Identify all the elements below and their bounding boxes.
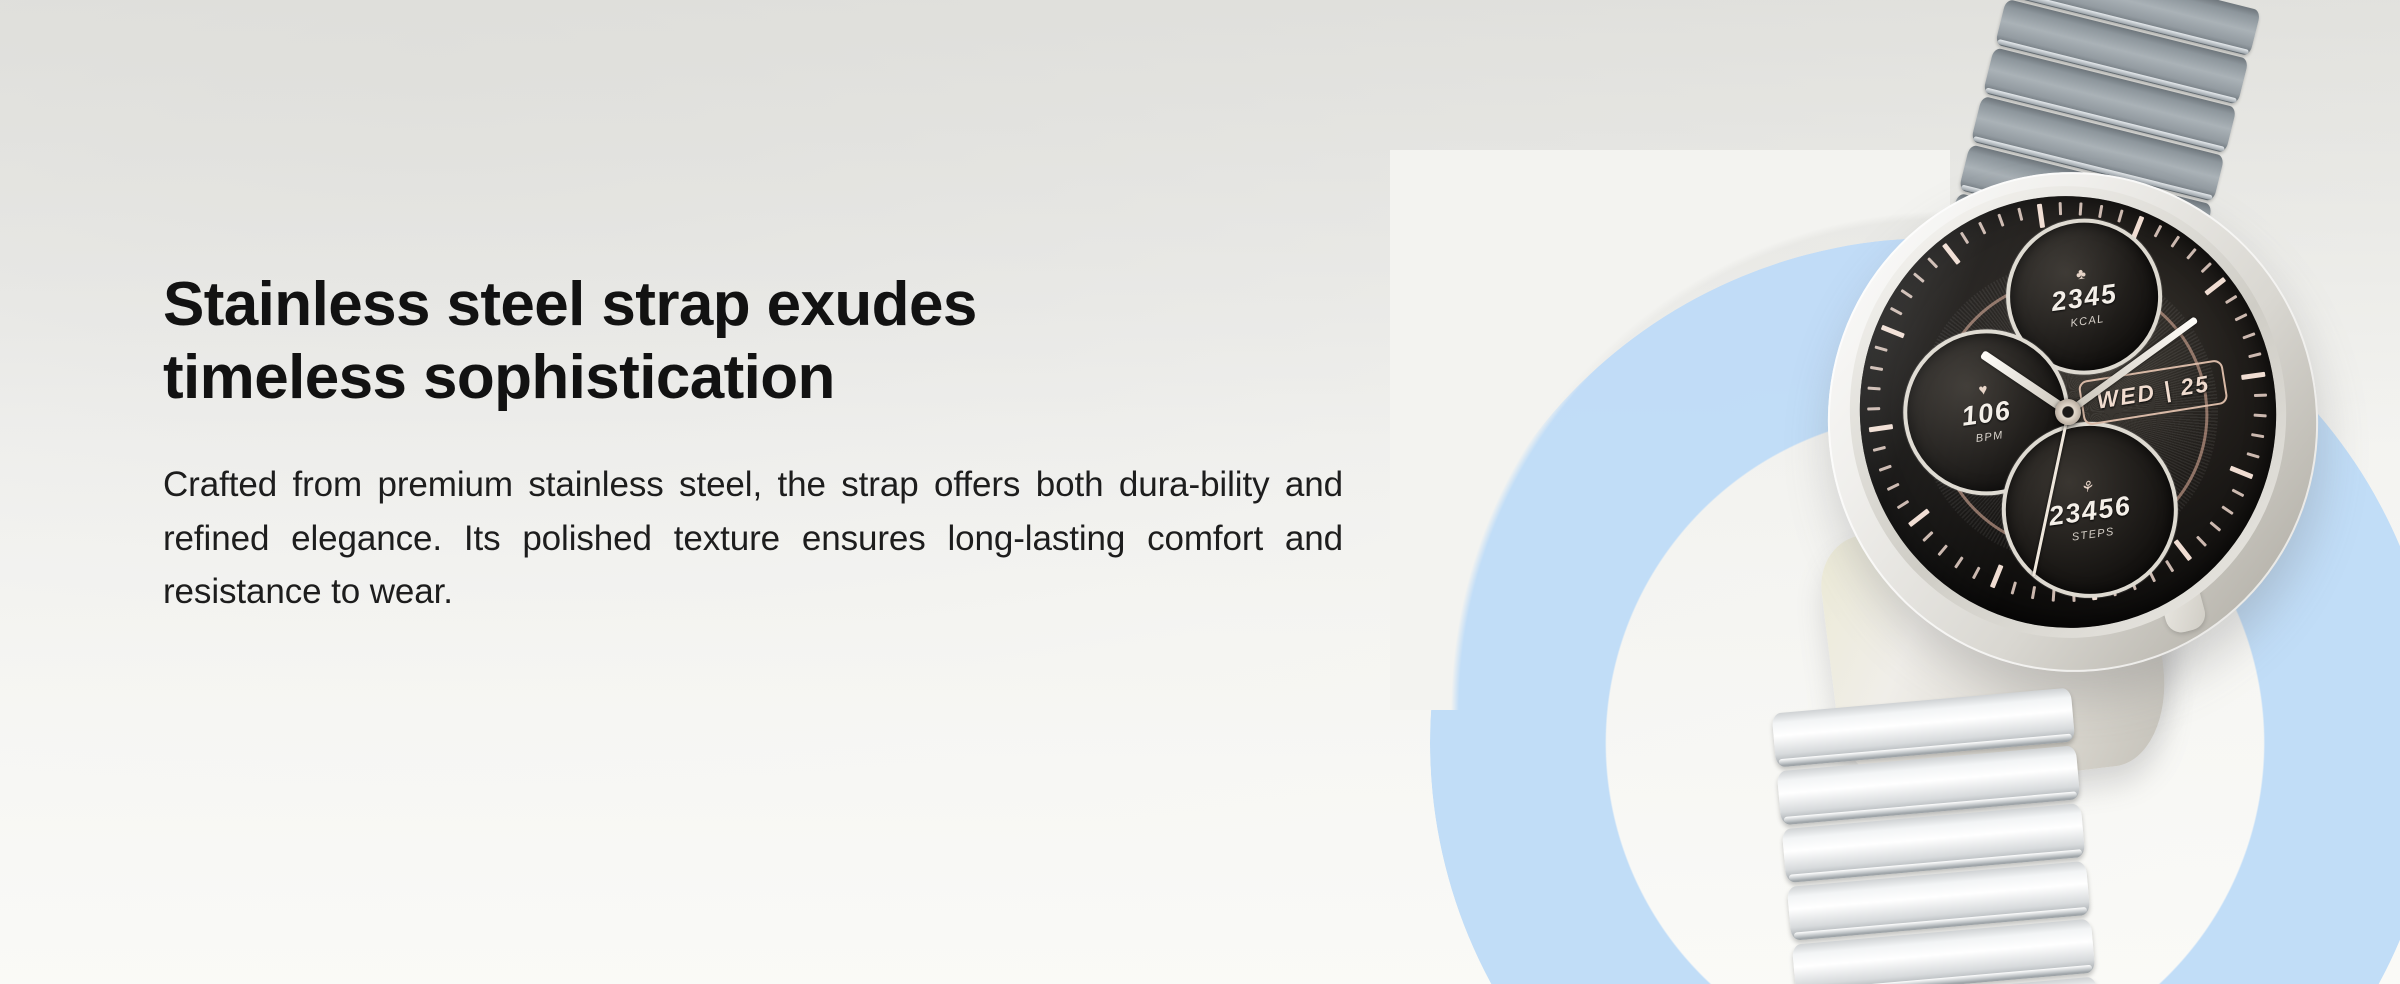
dial-tick xyxy=(1886,483,1899,491)
dial-tick xyxy=(2248,352,2261,358)
dial-tick xyxy=(1978,222,1986,235)
dial-tick xyxy=(1896,500,1909,509)
watch-dial: ♣ 2345 KCAL ♥ 106 BPM ⚘ 23456 STEPS W xyxy=(1832,169,2304,655)
dial-tick xyxy=(2234,313,2247,321)
dial-tick xyxy=(2242,332,2255,339)
dial-tick xyxy=(2117,209,2123,222)
dial-tick xyxy=(2253,394,2266,397)
complication-label: KCAL xyxy=(2070,313,2106,330)
dial-tick xyxy=(1997,214,2004,227)
complication-label: STEPS xyxy=(2071,525,2115,543)
flame-icon: ♣ xyxy=(2075,266,2087,282)
complication-value: 106 xyxy=(1960,397,2013,431)
watch-strap-lower xyxy=(1772,688,2099,984)
footsteps-icon: ⚘ xyxy=(2079,479,2094,496)
dial-tick xyxy=(1868,424,1892,432)
dial-tick xyxy=(1874,346,1887,352)
complication-label: BPM xyxy=(1975,429,2004,445)
dial-tick xyxy=(1937,544,1948,556)
dial-tick xyxy=(1942,243,1961,265)
dial-tick xyxy=(2030,586,2035,599)
watch-bezel: ♣ 2345 KCAL ♥ 106 BPM ⚘ 23456 STEPS W xyxy=(1821,158,2316,666)
dial-tick xyxy=(2200,262,2211,273)
dial-tick xyxy=(1889,307,1902,316)
product-banner: Stainless steel strap exudes timeless so… xyxy=(0,0,2400,984)
dial-tick xyxy=(2246,452,2259,458)
dial-tick xyxy=(2164,560,2173,573)
dial-tick xyxy=(1900,289,1912,299)
product-image: ♣ 2345 KCAL ♥ 106 BPM ⚘ 23456 STEPS W xyxy=(1330,0,2400,984)
dial-tick xyxy=(1878,465,1891,472)
dial-tick xyxy=(1959,232,1968,245)
dial-tick xyxy=(2231,489,2244,498)
dial-tick xyxy=(1927,257,1938,268)
dial-tick xyxy=(1869,366,1882,371)
dial-tick xyxy=(1954,556,1964,568)
heart-icon: ♥ xyxy=(1978,382,1989,398)
complication-value: 23456 xyxy=(2047,492,2133,530)
dial-tick xyxy=(1922,531,1933,542)
dial-tick xyxy=(2153,225,2162,238)
dial-tick xyxy=(2195,536,2206,547)
dial-tick xyxy=(2078,202,2082,215)
dial-tick xyxy=(1872,446,1885,452)
dial-tick xyxy=(2209,521,2221,532)
complication-value: 2345 xyxy=(2049,280,2119,316)
dial-tick xyxy=(1912,272,1924,283)
dial-tick xyxy=(2251,433,2264,438)
dial-tick xyxy=(2253,414,2266,418)
dial-tick xyxy=(2173,539,2192,561)
dial-tick xyxy=(2241,372,2265,380)
dial-tick xyxy=(2036,204,2044,228)
dial-tick xyxy=(1971,567,1980,580)
dial-tick xyxy=(2170,235,2180,247)
dial-tick xyxy=(2017,208,2023,221)
dial-tick xyxy=(1867,387,1880,391)
dial-tick xyxy=(1867,407,1880,410)
dial-tick xyxy=(2186,248,2197,260)
dial-tick xyxy=(2204,277,2226,296)
dial-tick xyxy=(2221,505,2233,515)
page-title: Stainless steel strap exudes timeless so… xyxy=(163,268,1343,414)
body-paragraph: Crafted from premium stainless steel, th… xyxy=(163,414,1343,618)
dial-tick xyxy=(2229,466,2253,480)
copy-block: Stainless steel strap exudes timeless so… xyxy=(163,268,1343,618)
dial-tick xyxy=(2010,581,2016,594)
dial-tick xyxy=(1907,508,1929,527)
dial-tick xyxy=(2058,202,2061,215)
dial-tick xyxy=(1880,325,1904,339)
dial-tick xyxy=(2098,205,2103,218)
dial-tick xyxy=(2224,295,2237,304)
dial-tick xyxy=(1989,564,2003,588)
